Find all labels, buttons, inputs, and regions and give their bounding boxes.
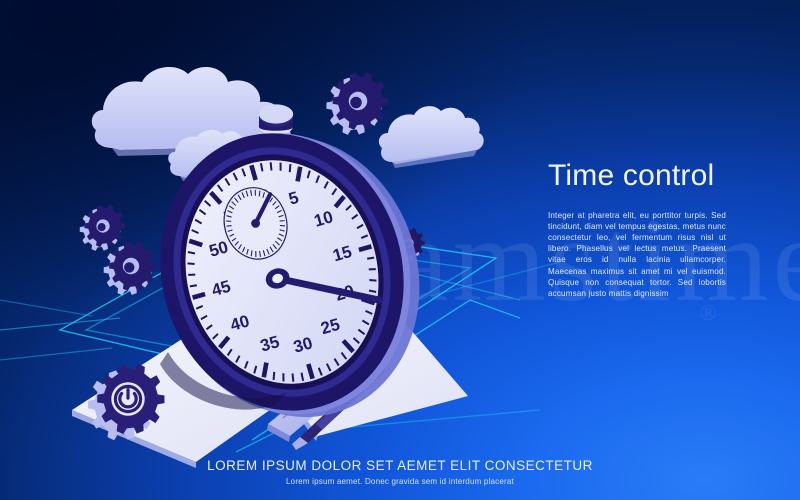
gear-left-upper [80, 205, 125, 251]
cloud-right [379, 106, 484, 168]
gear-left-lower [104, 241, 157, 295]
footer-headline: LOREM IPSUM DOLOR SET AEMET ELIT CONSECT… [0, 458, 800, 473]
page-title: Time control [548, 160, 726, 192]
text-column: Time control Integer at pharetra elit, e… [548, 160, 726, 299]
gear-top-right [326, 72, 388, 135]
svg-text:®: ® [700, 300, 717, 325]
body-paragraph: Integer at pharetra elit, eu porttitor t… [548, 210, 726, 300]
footer-subline: Lorem ipsum aemet. Donec gravida sem id … [0, 477, 800, 486]
illustration-canvas: dreamstime ® [0, 0, 800, 500]
footer-caption: LOREM IPSUM DOLOR SET AEMET ELIT CONSECT… [0, 458, 800, 486]
